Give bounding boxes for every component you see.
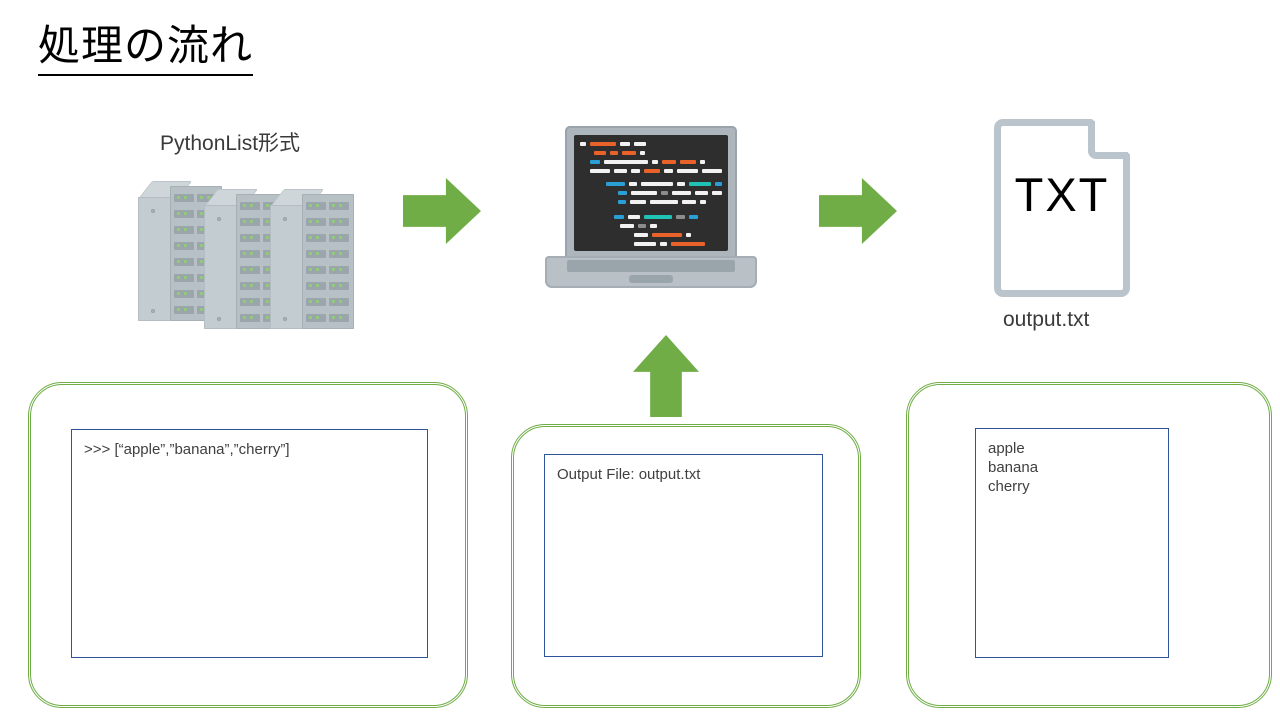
page-title: 処理の流れ: [38, 22, 253, 76]
server-rack-icon: [138, 175, 356, 335]
txt-file-icon: TXT: [994, 119, 1130, 297]
page-fold-corner: [1088, 121, 1128, 159]
input-source-caption: PythonList形式: [160, 127, 300, 157]
arrow-up-icon: [633, 335, 699, 417]
laptop-computer-icon: [545, 126, 757, 308]
result-contents-textbox[interactable]: apple banana cherry: [975, 428, 1169, 658]
process-output-textbox[interactable]: Output File: output.txt: [544, 454, 823, 657]
arrow-right-icon: [819, 178, 897, 244]
file-type-label: TXT: [994, 167, 1130, 222]
input-code-textbox[interactable]: >>> [“apple”,”banana”,”cherry”]: [71, 429, 428, 658]
arrow-right-icon: [403, 178, 481, 244]
laptop-screen-code: [574, 135, 728, 251]
output-file-caption: output.txt: [1003, 308, 1089, 332]
